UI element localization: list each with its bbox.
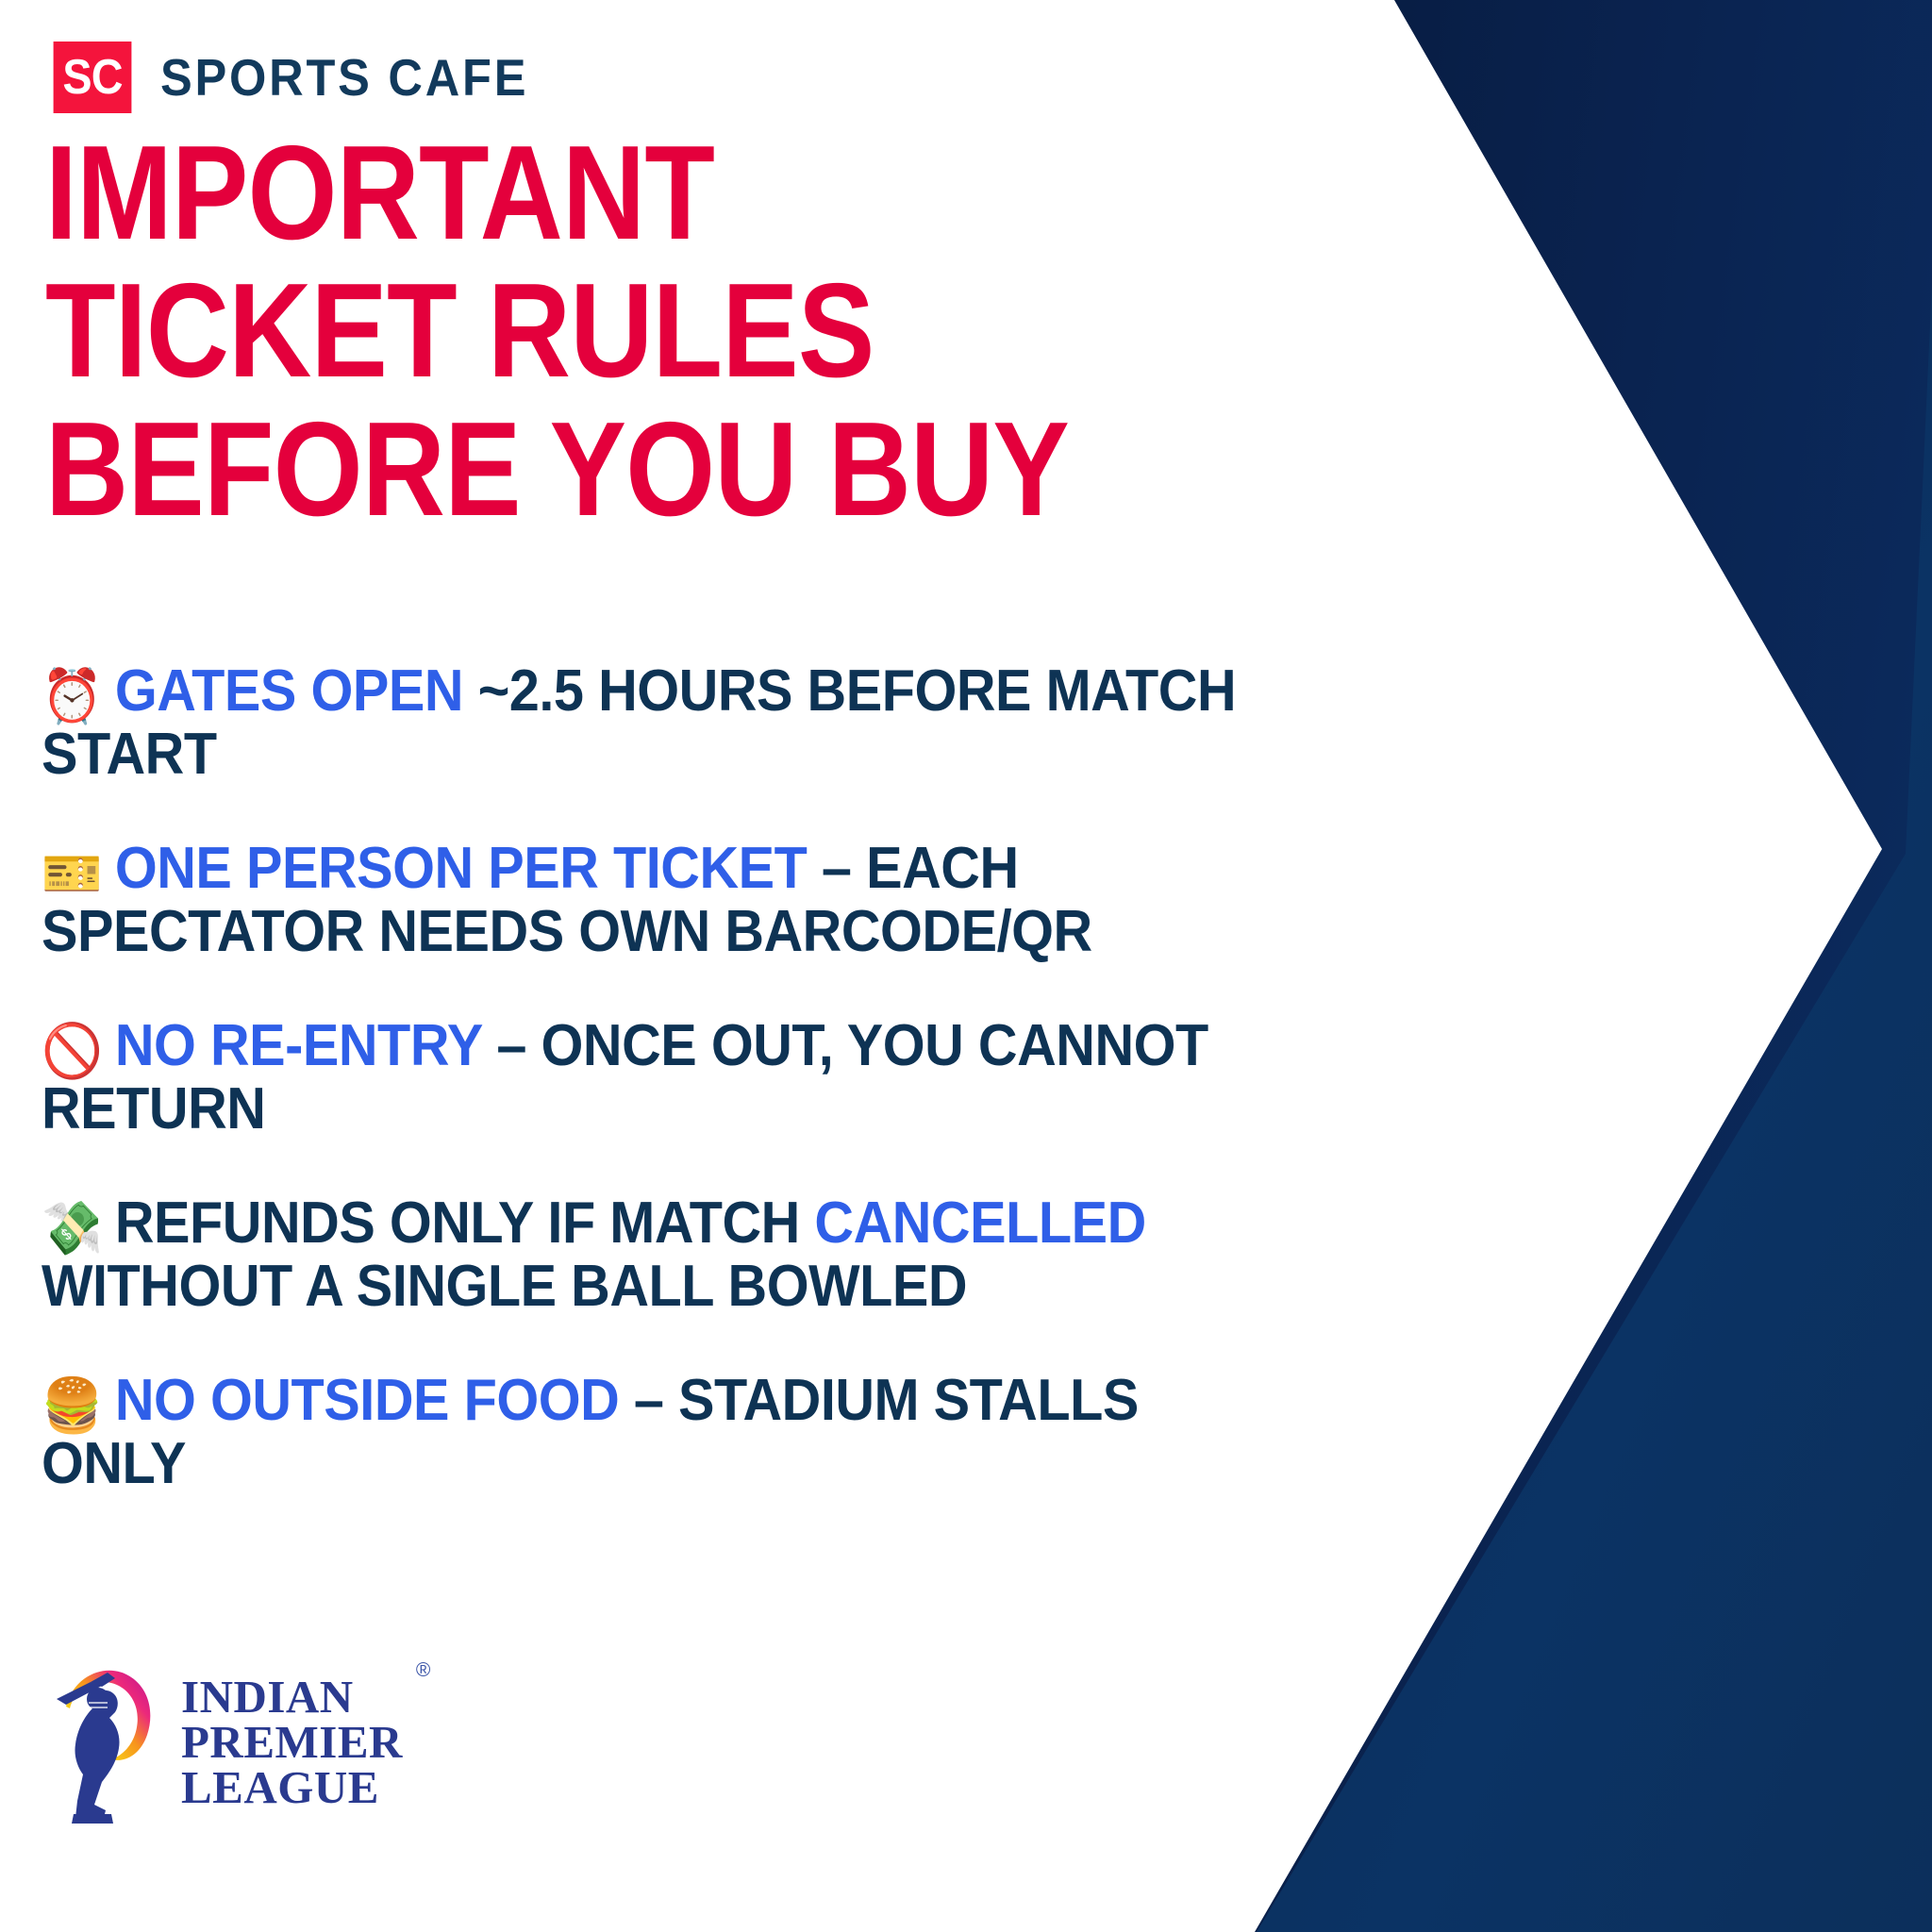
brand-name-text: SPORTS CAFE bbox=[160, 47, 528, 108]
rule-highlight: NO RE-ENTRY bbox=[115, 1013, 482, 1078]
ipl-batsman-icon bbox=[49, 1657, 172, 1827]
page-title: IMPORTANT TICKET RULES BEFORE YOU BUY bbox=[45, 125, 1084, 539]
hamburger-icon: 🍔 bbox=[42, 1375, 103, 1435]
registered-trademark-icon: ® bbox=[416, 1661, 431, 1681]
rule-highlight: CANCELLED bbox=[814, 1191, 1145, 1256]
list-item: 🚫NO RE-ENTRY – ONCE OUT, YOU CANNOT RETU… bbox=[42, 1015, 1261, 1141]
admit-one-ticket-icon: 🎫 bbox=[42, 843, 103, 903]
title-line-3: BEFORE YOU BUY bbox=[45, 401, 1084, 539]
sc-monogram-icon: SC bbox=[54, 42, 132, 113]
ipl-line-1: INDIAN bbox=[181, 1674, 403, 1720]
rules-list: ⏰GATES OPEN ~2.5 HOURS BEFORE MATCH STAR… bbox=[42, 660, 1353, 1496]
ipl-line-2: PREMIER bbox=[181, 1720, 403, 1765]
chevron-back-shape bbox=[1255, 0, 1932, 1932]
list-item: 🍔NO OUTSIDE FOOD – STADIUM STALLS ONLY bbox=[42, 1370, 1261, 1496]
list-item: 🎫ONE PERSON PER TICKET – EACH SPECTATOR … bbox=[42, 838, 1261, 964]
rule-highlight: NO OUTSIDE FOOD bbox=[115, 1368, 619, 1433]
list-item: ⏰GATES OPEN ~2.5 HOURS BEFORE MATCH STAR… bbox=[42, 660, 1261, 787]
rule-lead-text: REFUNDS ONLY IF MATCH bbox=[115, 1191, 815, 1256]
title-line-2: TICKET RULES bbox=[45, 262, 1084, 400]
money-with-wings-icon: 💸 bbox=[42, 1198, 103, 1257]
title-line-1: IMPORTANT bbox=[45, 125, 1084, 262]
alarm-clock-icon: ⏰ bbox=[42, 666, 103, 725]
brand-logo: SC SPORTS CAFE bbox=[49, 42, 560, 113]
ipl-wordmark: INDIAN PREMIER LEAGUE ® bbox=[181, 1674, 403, 1810]
list-item: 💸REFUNDS ONLY IF MATCH CANCELLED WITHOUT… bbox=[42, 1192, 1261, 1319]
ipl-line-3: LEAGUE bbox=[181, 1765, 403, 1810]
rule-text: WITHOUT A SINGLE BALL BOWLED bbox=[42, 1254, 967, 1319]
ipl-logo: INDIAN PREMIER LEAGUE ® bbox=[49, 1653, 360, 1832]
rule-highlight: GATES OPEN bbox=[115, 658, 463, 724]
rule-highlight: ONE PERSON PER TICKET bbox=[115, 836, 808, 901]
chevron-front-shape bbox=[1257, 283, 1932, 1932]
prohibited-sign-icon: 🚫 bbox=[42, 1021, 103, 1080]
poster-canvas: SC SPORTS CAFE IMPORTANT TICKET RULES BE… bbox=[0, 0, 1932, 1932]
